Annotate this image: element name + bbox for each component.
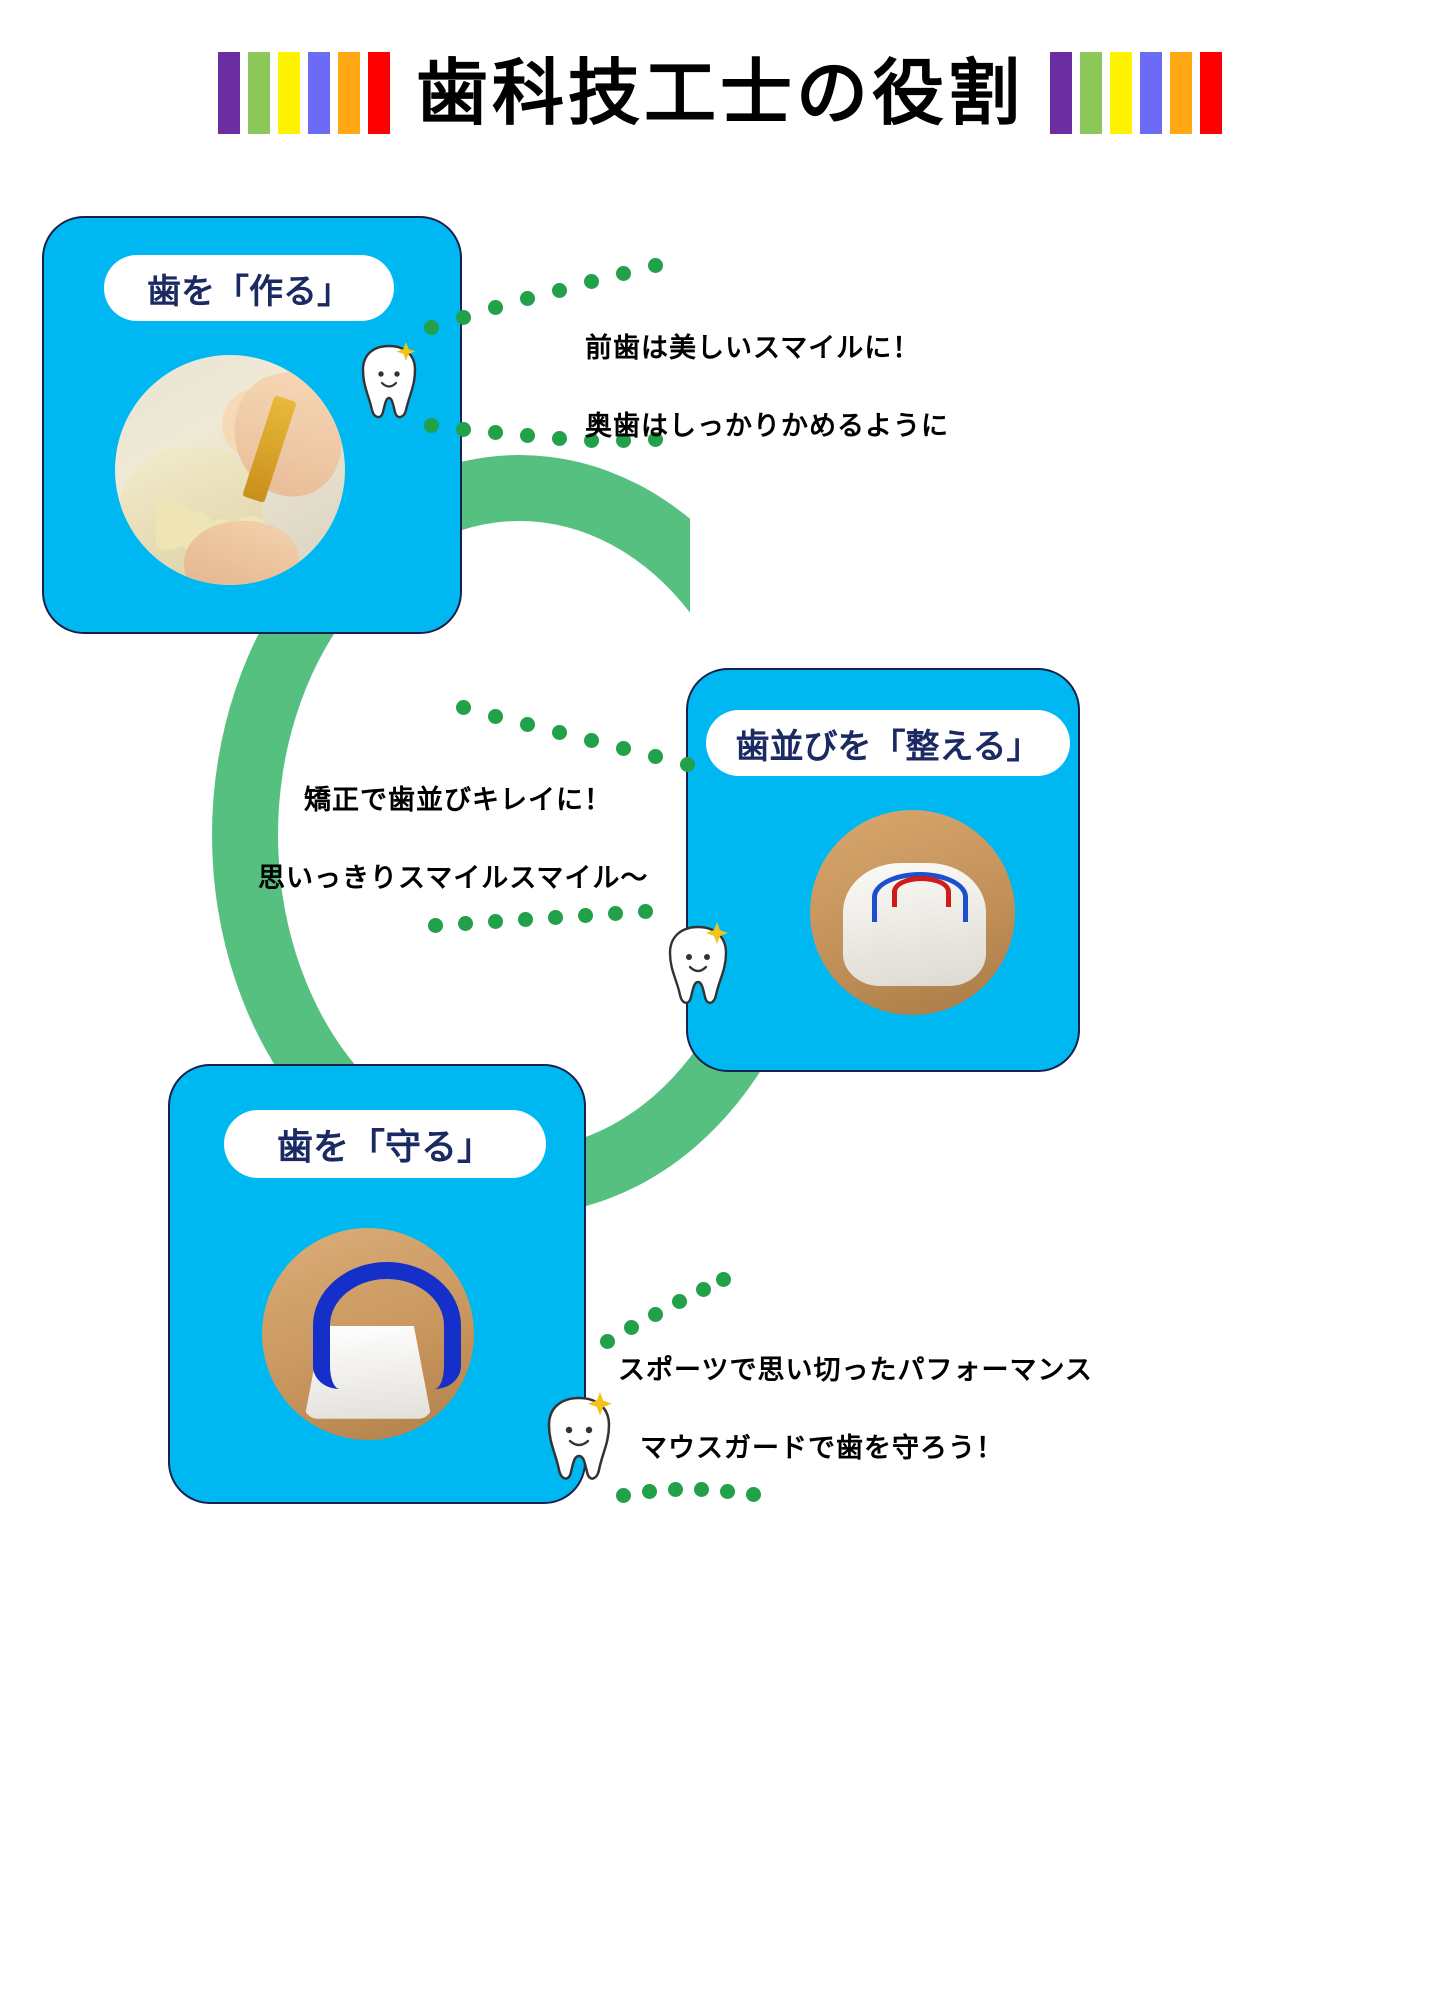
note-make-line-1: 前歯は美しいスマイルに！ [585,310,949,388]
tooth-mascot-icon [542,1390,616,1486]
color-bar [368,52,390,134]
note-protect: スポーツで思い切ったパフォーマンス マウスガードで歯を守ろう！ [618,1332,1093,1488]
note-align-line-2: 思いっきりスマイルスマイル～ [258,840,648,918]
page-title: 歯科技工士の役割 [416,57,1024,129]
color-bar [218,52,240,134]
tooth-mascot-icon [358,340,420,424]
poster-header: 歯科技工士の役割 [0,38,1440,148]
color-bar [248,52,270,134]
card-align-photo [810,810,1015,1015]
note-align: 矯正で歯並びキレイに！ 思いっきりスマイルスマイル～ [258,762,648,918]
card-make-label: 歯を「作る」 [104,255,394,321]
note-protect-line-2: マウスガードで歯を守ろう！ [640,1410,1093,1488]
card-protect-photo [262,1228,474,1440]
blue-mouthguard-shape [313,1262,461,1389]
color-bar [308,52,330,134]
ring-gap-mask [690,430,890,690]
color-bar [338,52,360,134]
note-make-line-2: 奥歯はしっかりかめるように [585,388,949,466]
color-bars-right [1050,52,1222,134]
card-protect-label: 歯を「守る」 [224,1110,546,1178]
color-bar [1200,52,1222,134]
card-make-photo [115,355,345,585]
note-make: 前歯は美しいスマイルに！ 奥歯はしっかりかめるように [585,310,949,466]
note-align-line-1: 矯正で歯並びキレイに！ [304,762,648,840]
card-align-label: 歯並びを「整える」 [706,710,1070,776]
orthodontic-wire-red-shape [892,876,951,908]
color-bar [1050,52,1072,134]
note-protect-line-1: スポーツで思い切ったパフォーマンス [618,1332,1093,1410]
color-bars-left [218,52,390,134]
color-bar [1110,52,1132,134]
color-bar [1140,52,1162,134]
tooth-mascot-icon [664,920,732,1010]
color-bar [278,52,300,134]
color-bar [1080,52,1102,134]
poster-canvas: 歯科技工士の役割 歯を「作る」 [0,0,1440,2012]
color-bar [1170,52,1192,134]
